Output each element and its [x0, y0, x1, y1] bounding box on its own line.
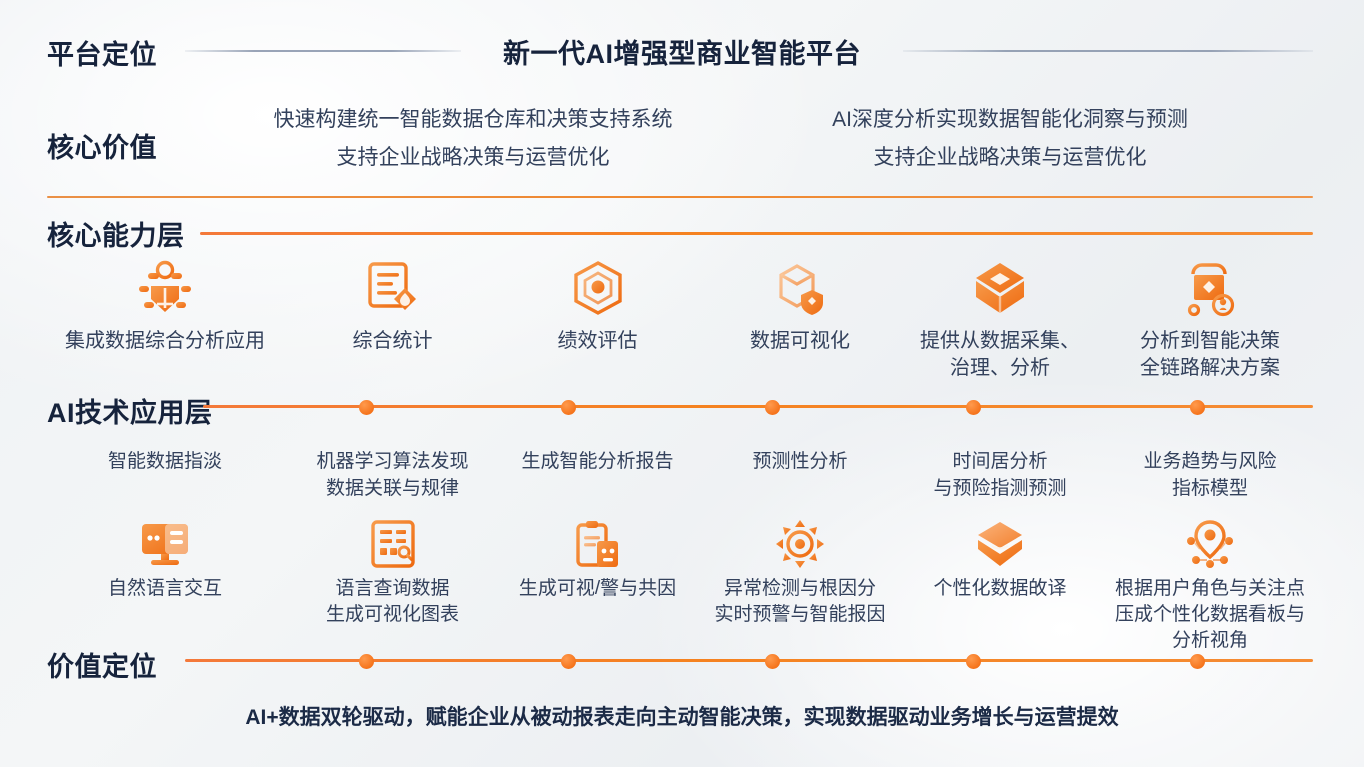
capability-item-4[interactable]: 提供从数据采集、 治理、分析	[900, 258, 1100, 382]
application-item-3[interactable]: 异常检测与根因分 实时预警与智能报因	[700, 518, 900, 654]
capability-items-row: 集成数据综合分析应用 综合统计	[40, 258, 1320, 382]
application-label: 实时预警与智能报因	[700, 602, 900, 628]
capability-label: 集成数据综合分析应用	[40, 328, 290, 355]
capability-item-3[interactable]: 数据可视化	[700, 258, 900, 382]
application-item-1[interactable]: 语言查询数据 生成可视化图表	[290, 518, 495, 654]
capability-label: 数据可视化	[700, 328, 900, 355]
connector-dot	[1190, 654, 1205, 669]
ai-label: 时间居分析	[900, 448, 1100, 475]
capability-item-5[interactable]: 分析到智能决策 全链路解决方案	[1100, 258, 1320, 382]
application-label: 语言查询数据	[290, 576, 495, 602]
ai-label: 机器学习算法发现	[290, 448, 495, 475]
monitor-chat-icon	[40, 518, 290, 570]
application-item-0[interactable]: 自然语言交互	[40, 518, 290, 654]
application-item-4[interactable]: 个性化数据敀译	[900, 518, 1100, 654]
section-label-core-value: 核心价值	[47, 126, 157, 165]
ai-label: 数据关联与规律	[290, 475, 495, 502]
ai-label: 智能数据指淡	[40, 448, 290, 475]
value-layer-rule	[185, 659, 1313, 662]
core-value-line: 快速构建统一智能数据仓库和决策支持系统	[213, 101, 733, 139]
hexagon-target-icon	[495, 258, 700, 320]
application-label: 压成个性化数据看板与	[1100, 602, 1320, 628]
connector-dot	[561, 654, 576, 669]
connector-dot	[359, 400, 374, 415]
connector-dot	[1190, 400, 1205, 415]
ai-item-1[interactable]: 机器学习算法发现 数据关联与规律	[290, 448, 495, 502]
cart-tag-icon	[1100, 258, 1320, 320]
capability-label: 绩效评估	[495, 328, 700, 355]
ai-item-4[interactable]: 时间居分析 与预险指测预测	[900, 448, 1100, 502]
ai-label: 预测性分析	[700, 448, 900, 475]
ai-items-row: 智能数据指淡 机器学习算法发现 数据关联与规律 生成智能分析报告 预测性分析 时…	[40, 448, 1320, 502]
box-shield-icon	[700, 258, 900, 320]
core-value-line: 支持企业战略决策与运营优化	[760, 139, 1260, 177]
layered-box-icon	[900, 258, 1100, 320]
header-divider-right	[903, 50, 1313, 52]
ai-label: 指标模型	[1100, 475, 1320, 502]
application-item-5[interactable]: 根据用户角色与关注点 压成个性化数据看板与 分析视角	[1100, 518, 1320, 654]
capability-label: 提供从数据采集、	[900, 328, 1100, 355]
location-network-icon	[1100, 518, 1320, 570]
core-value-column-1: 快速构建统一智能数据仓库和决策支持系统 支持企业战略决策与运营优化	[213, 101, 733, 177]
ai-item-0[interactable]: 智能数据指淡	[40, 448, 290, 502]
ai-item-2[interactable]: 生成智能分析报告	[495, 448, 700, 502]
capability-layer-rule	[200, 232, 1313, 235]
ai-item-5[interactable]: 业务趋势与风险 指标模型	[1100, 448, 1320, 502]
core-value-line: 支持企业战略决策与运营优化	[213, 139, 733, 177]
ai-label: 生成智能分析报告	[495, 448, 700, 475]
application-label: 异常检测与根因分	[700, 576, 900, 602]
capability-item-1[interactable]: 综合统计	[290, 258, 495, 382]
document-chart-icon	[290, 258, 495, 320]
gear-anomaly-icon	[700, 518, 900, 570]
ai-item-3[interactable]: 预测性分析	[700, 448, 900, 502]
application-label: 个性化数据敀译	[900, 576, 1100, 602]
capability-label: 治理、分析	[900, 355, 1100, 382]
team-network-icon	[40, 258, 290, 320]
section-separator	[47, 196, 1313, 198]
application-label: 生成可视/警与共因	[495, 576, 700, 602]
section-label-capability-layer: 核心能力层	[47, 214, 185, 253]
core-value-line: AI深度分析实现数据智能化洞察与预测	[760, 101, 1260, 139]
application-label: 生成可视化图表	[290, 602, 495, 628]
capability-label: 全链路解决方案	[1100, 355, 1320, 382]
connector-dot	[966, 654, 981, 669]
capability-label: 分析到智能决策	[1100, 328, 1320, 355]
bottom-statement: AI+数据双轮驱动，赋能企业从被动报表走向主动智能决策，实现数据驱动业务增长与运…	[0, 701, 1364, 731]
capability-label: 综合统计	[290, 328, 495, 355]
application-label: 根据用户角色与关注点	[1100, 576, 1320, 602]
application-label: 自然语言交互	[40, 576, 290, 602]
capability-item-2[interactable]: 绩效评估	[495, 258, 700, 382]
layered-stack-icon	[900, 518, 1100, 570]
ai-label: 业务趋势与风险	[1100, 448, 1320, 475]
connector-dot	[966, 400, 981, 415]
section-label-ai-technology-layer: AI技术应用层	[47, 391, 213, 430]
connector-dot	[561, 400, 576, 415]
connector-dot	[359, 654, 374, 669]
ai-label: 与预险指测预测	[900, 475, 1100, 502]
clipboard-bot-icon	[495, 518, 700, 570]
connector-dot	[765, 654, 780, 669]
connector-dot	[765, 400, 780, 415]
application-item-2[interactable]: 生成可视/警与共因	[495, 518, 700, 654]
application-label: 分析视角	[1100, 628, 1320, 654]
core-value-column-2: AI深度分析实现数据智能化洞察与预测 支持企业战略决策与运营优化	[760, 101, 1260, 177]
report-form-icon	[290, 518, 495, 570]
slide-canvas: 平台定位 新一代AI增强型商业智能平台 核心价值 快速构建统一智能数据仓库和决策…	[0, 0, 1364, 767]
capability-item-0[interactable]: 集成数据综合分析应用	[40, 258, 290, 382]
section-label-value-positioning: 价值定位	[47, 645, 157, 684]
application-items-row: 自然语言交互 语言查询数据	[40, 518, 1320, 654]
